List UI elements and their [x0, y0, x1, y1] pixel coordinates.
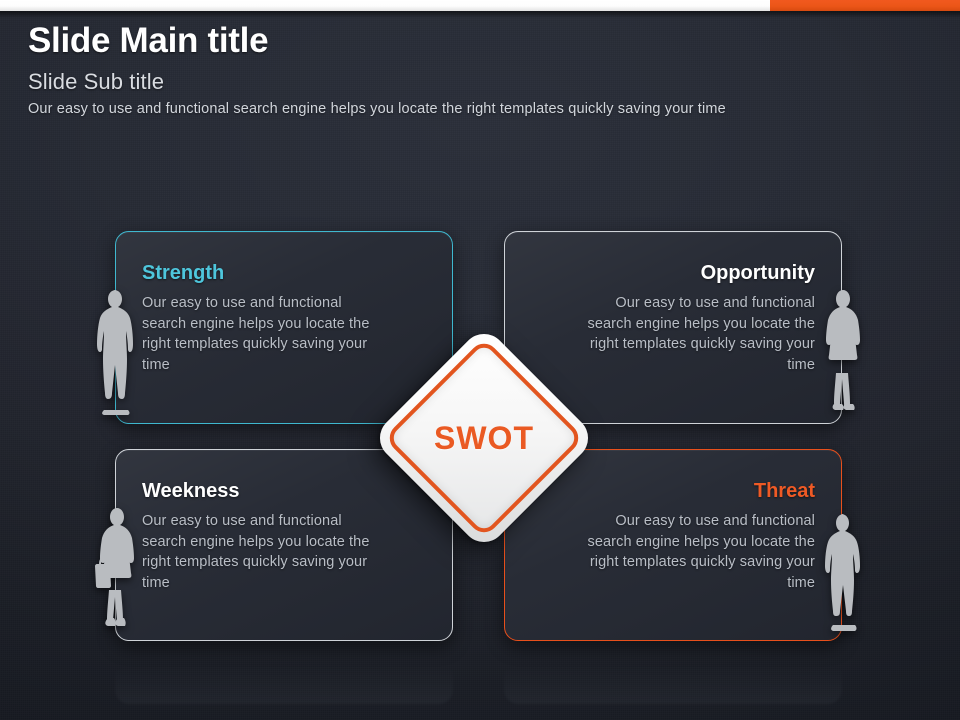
swot-badge-label: SWOT — [434, 420, 534, 457]
opportunity-body: Our easy to use and functional search en… — [583, 293, 815, 375]
swot-center-badge[interactable]: SWOT — [371, 325, 597, 551]
weekness-content: Weekness Our easy to use and functional … — [116, 450, 452, 640]
weekness-box-reflection — [115, 642, 453, 704]
weekness-body: Our easy to use and functional search en… — [142, 511, 374, 593]
opportunity-title: Opportunity — [531, 262, 815, 284]
top-accent-bar — [0, 0, 960, 11]
swot-quadrant-strength[interactable]: Strength Our easy to use and functional … — [115, 231, 453, 424]
strength-content: Strength Our easy to use and functional … — [116, 232, 452, 423]
male-silhouette-icon — [93, 288, 139, 418]
top-bar-shadow — [0, 11, 960, 18]
swot-quadrant-weekness[interactable]: Weekness Our easy to use and functional … — [115, 449, 453, 641]
threat-title: Threat — [531, 480, 815, 502]
page-subtitle: Slide Sub title — [28, 70, 726, 94]
weekness-title: Weekness — [142, 480, 426, 502]
top-bar-accent-segment — [770, 0, 960, 11]
strength-body: Our easy to use and functional search en… — [142, 293, 374, 375]
top-bar-light-segment — [0, 0, 770, 11]
threat-box-reflection — [504, 642, 842, 704]
strength-title: Strength — [142, 262, 426, 284]
slide-header: Slide Main title Slide Sub title Our eas… — [28, 22, 726, 118]
male-silhouette-icon — [822, 512, 866, 632]
page-description: Our easy to use and functional search en… — [28, 100, 726, 118]
threat-body: Our easy to use and functional search en… — [583, 511, 815, 593]
swot-badge-label-wrap: SWOT — [404, 358, 564, 518]
female-silhouette-bag-icon — [93, 506, 139, 628]
slide-canvas: Slide Main title Slide Sub title Our eas… — [0, 0, 960, 720]
page-title: Slide Main title — [28, 22, 726, 60]
female-silhouette-icon — [822, 288, 864, 412]
